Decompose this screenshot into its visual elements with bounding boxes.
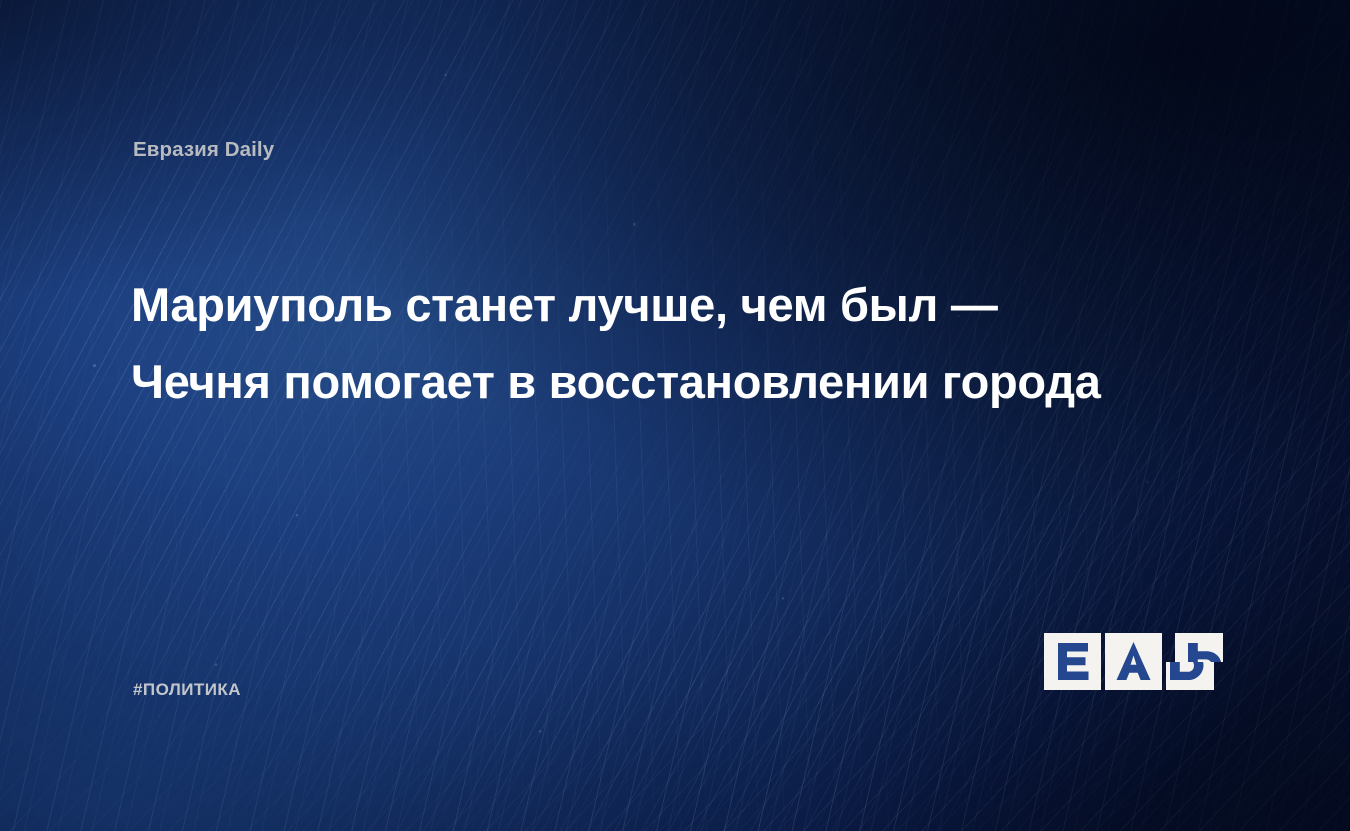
ead-logo (1044, 633, 1223, 690)
site-name: Евразия Daily (133, 138, 274, 162)
category-tag: #ПОЛИТИКА (133, 680, 241, 700)
logo-tile-a (1105, 633, 1162, 690)
letter-a-glyph (1105, 633, 1162, 690)
logo-tile-e (1044, 633, 1101, 690)
article-headline: Мариуполь станет лучше, чем был — Чечня … (131, 266, 1131, 420)
letter-d-glyph-top (1175, 633, 1223, 662)
letter-d-glyph-bottom (1166, 662, 1214, 691)
logo-tile-d-top-half (1175, 633, 1223, 662)
card-content: Евразия Daily Мариуполь станет лучше, че… (0, 0, 1350, 831)
logo-tile-d (1166, 633, 1223, 690)
logo-tile-d-bottom-half (1166, 662, 1214, 691)
social-share-card: Евразия Daily Мариуполь станет лучше, че… (0, 0, 1350, 831)
letter-e-glyph (1044, 633, 1101, 690)
